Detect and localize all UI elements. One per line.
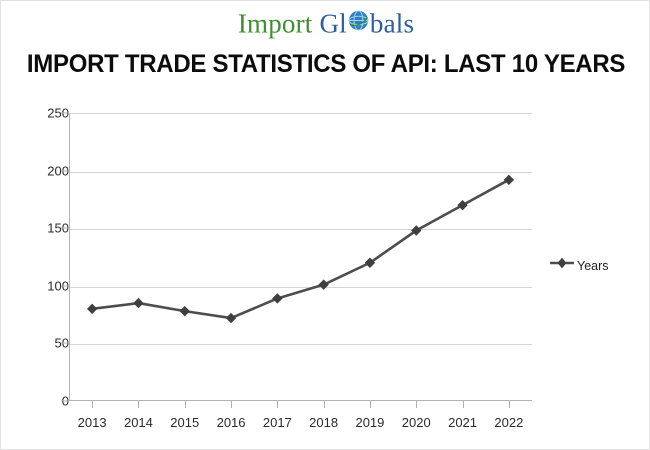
- data-point-marker: [272, 293, 282, 303]
- y-axis-tick-mark: [61, 401, 68, 402]
- logo-text-gl: Gl: [319, 8, 346, 38]
- y-axis-tick-mark: [61, 113, 68, 114]
- y-axis-tick-mark: [61, 343, 68, 344]
- data-point-marker: [226, 313, 236, 323]
- x-axis-tick-mark: [138, 401, 139, 408]
- x-axis-tick-mark: [416, 401, 417, 408]
- data-point-marker: [87, 304, 97, 314]
- page-title: IMPORT TRADE STATISTICS OF API: LAST 10 …: [14, 50, 638, 79]
- x-axis-tick-mark: [370, 401, 371, 408]
- logo-text-import: Import: [238, 8, 313, 38]
- x-axis-tick-mark: [463, 401, 464, 408]
- y-axis-tick-mark: [61, 228, 68, 229]
- data-point-marker: [318, 279, 328, 289]
- legend-item-label: Years: [577, 259, 609, 273]
- y-axis-tick-mark: [61, 170, 68, 171]
- x-axis-tick-label: 2015: [170, 415, 199, 430]
- legend-marker-icon: [549, 256, 575, 275]
- data-point-marker: [504, 175, 514, 185]
- y-axis: 050100150200250: [1, 1, 69, 450]
- x-axis-tick-mark: [231, 401, 232, 408]
- x-axis-tick-label: 2017: [263, 415, 292, 430]
- brand-logo: Import Gl bals: [1, 9, 650, 37]
- x-axis-tick-label: 2019: [355, 415, 384, 430]
- data-point-marker: [180, 306, 190, 316]
- x-axis-tick-mark: [324, 401, 325, 408]
- x-axis-tick-label: 2018: [309, 415, 338, 430]
- x-axis: 2013201420152016201720182019202020212022: [69, 401, 532, 441]
- x-axis-tick-label: 2022: [494, 415, 523, 430]
- data-point-marker: [133, 298, 143, 308]
- series-line: [92, 180, 509, 318]
- x-axis-tick-label: 2020: [402, 415, 431, 430]
- x-axis-tick-mark: [185, 401, 186, 408]
- data-point-marker: [457, 200, 467, 210]
- x-axis-tick-label: 2014: [124, 415, 153, 430]
- data-series-layer: [69, 113, 532, 401]
- chart-legend: Years: [549, 256, 609, 275]
- x-axis-tick-mark: [92, 401, 93, 408]
- x-axis-tick-label: 2016: [217, 415, 246, 430]
- chart-page: Import Gl bals IMPORT TRADE STATISTICS O…: [0, 0, 650, 450]
- logo-text-bals: bals: [370, 8, 414, 38]
- y-axis-tick-mark: [61, 285, 68, 286]
- x-axis-tick-mark: [509, 401, 510, 408]
- x-axis-tick-label: 2021: [448, 415, 477, 430]
- x-axis-tick-mark: [277, 401, 278, 408]
- globe-icon: [347, 9, 370, 32]
- x-axis-tick-label: 2013: [78, 415, 107, 430]
